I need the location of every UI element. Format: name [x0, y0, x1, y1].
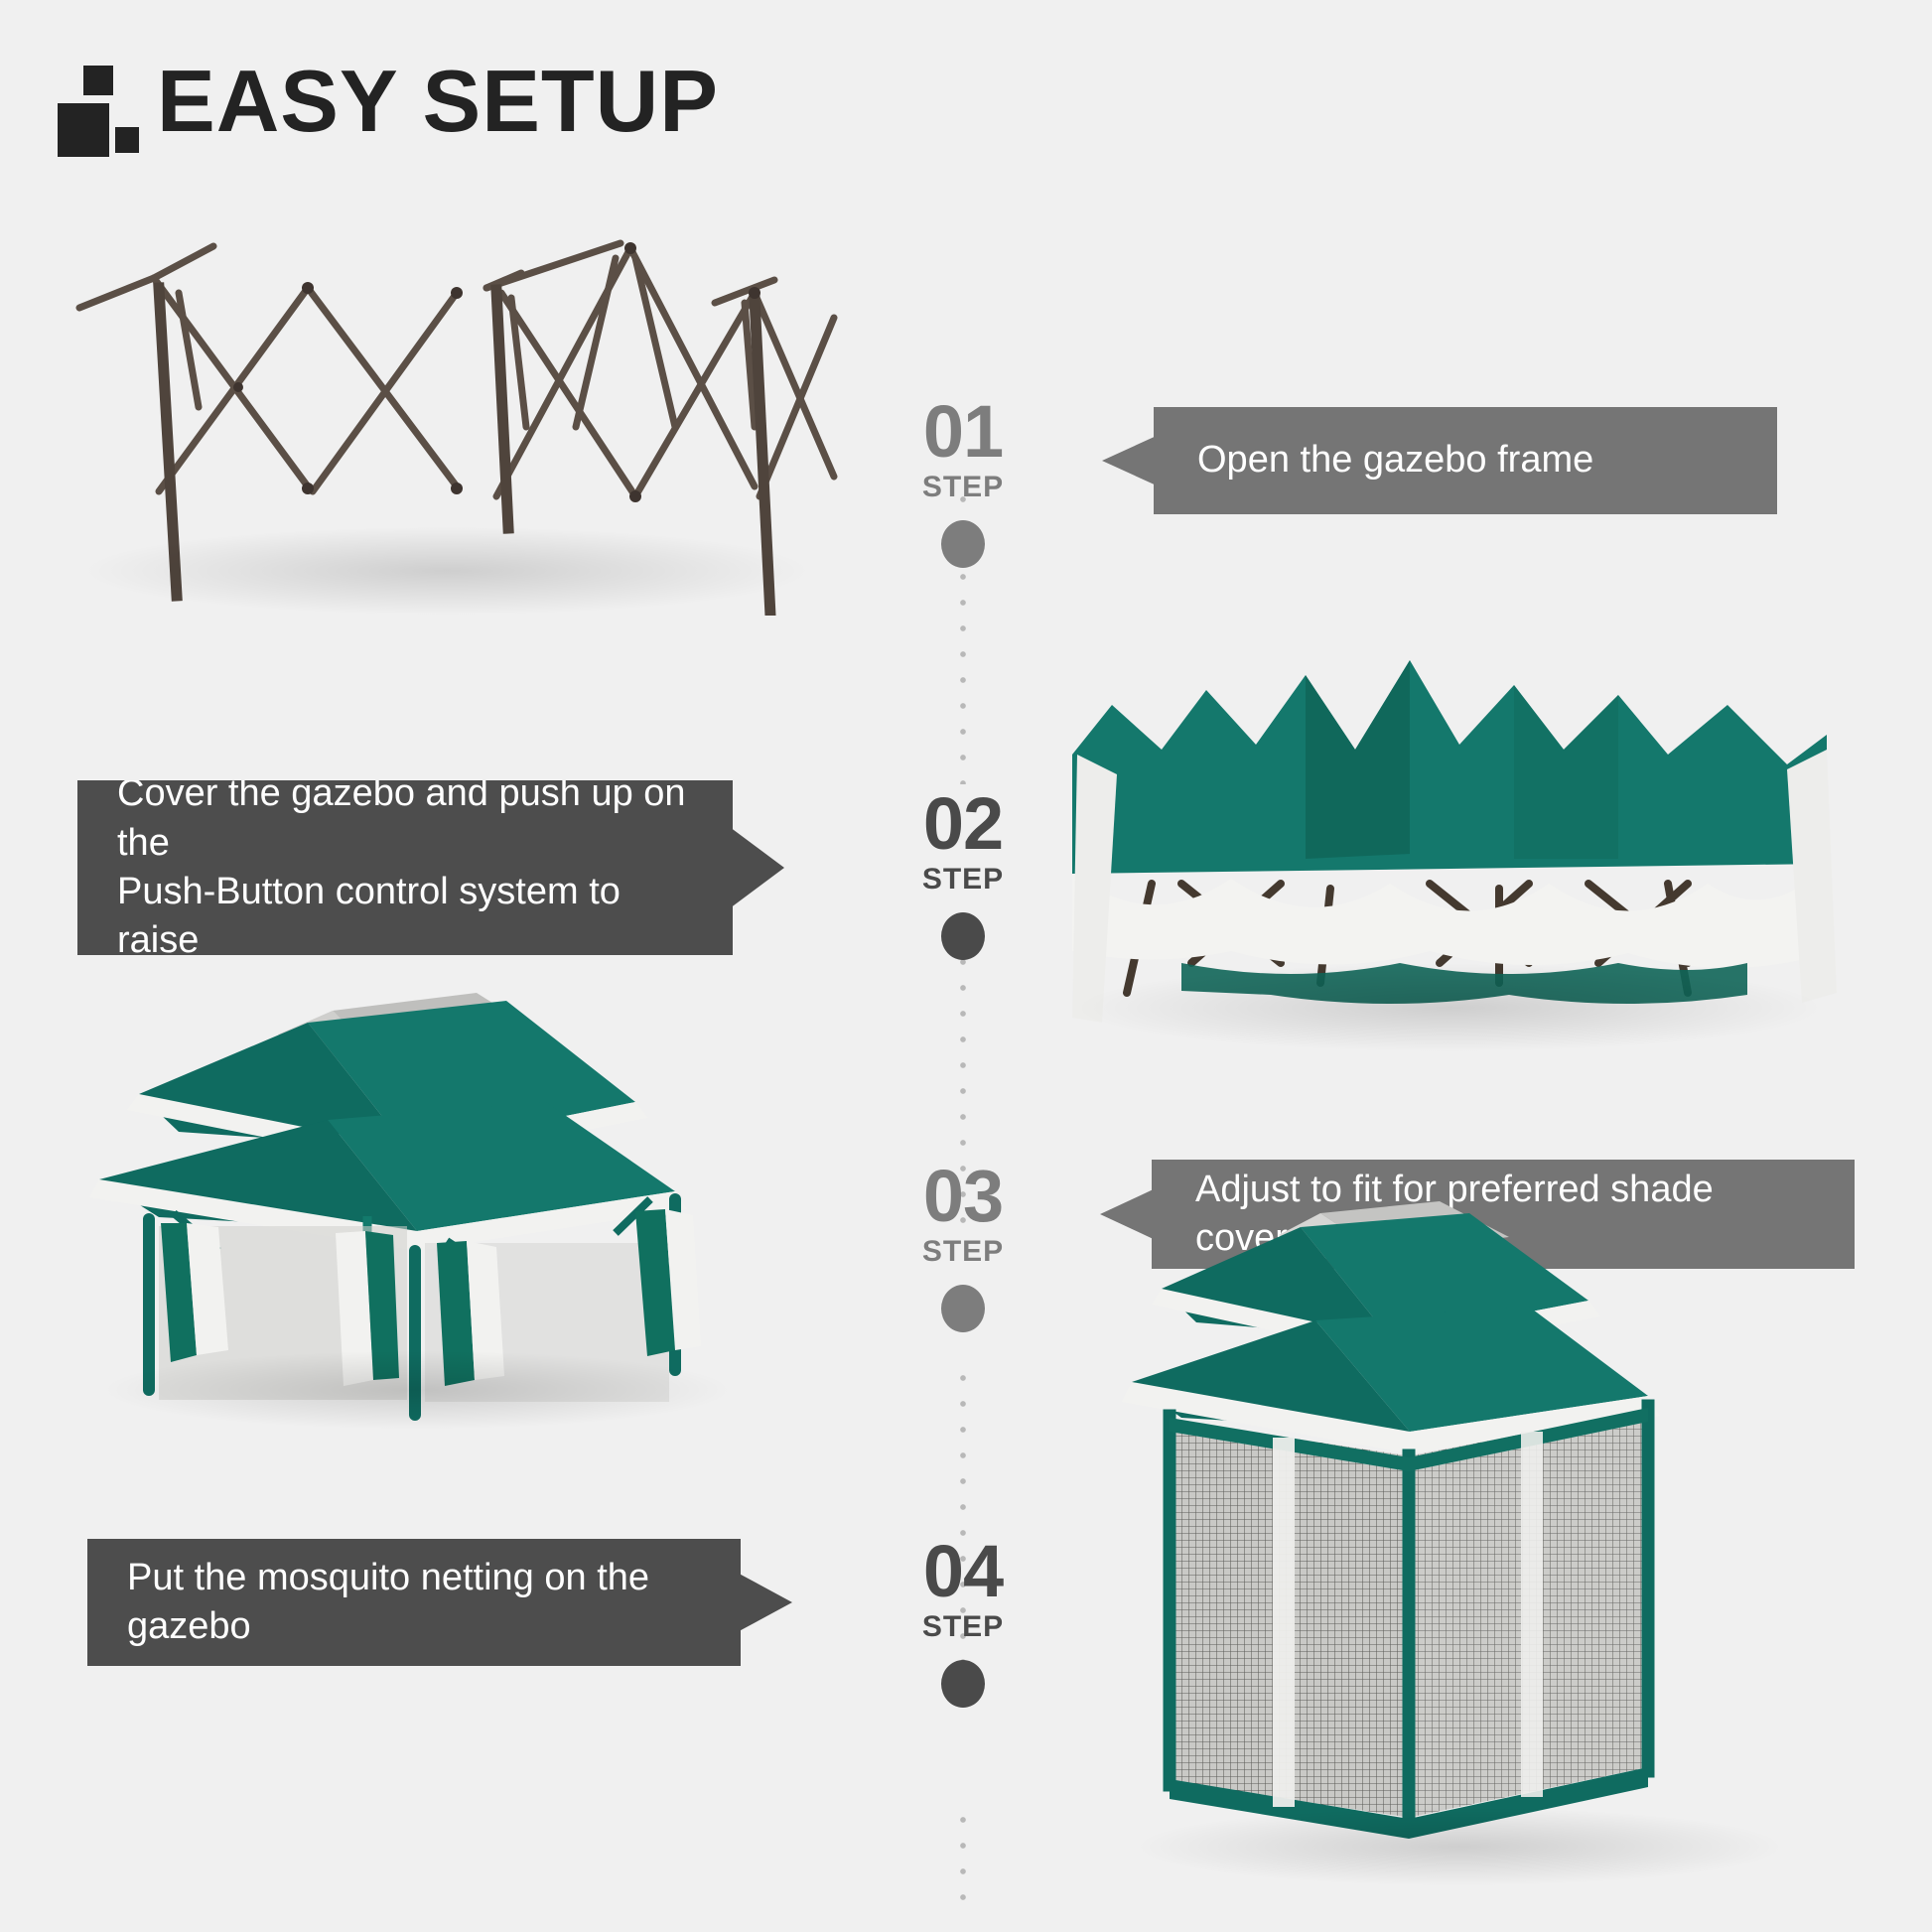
- canopy-teal-drape: [1072, 660, 1827, 874]
- step-word: STEP: [884, 863, 1042, 897]
- netted-gazebo-svg: [1112, 1172, 1807, 1896]
- step-dot: [941, 520, 985, 568]
- step-number: 01: [884, 397, 1042, 467]
- callout-step-02: Cover the gazebo and push up on the Push…: [77, 780, 784, 955]
- page-header: EASY SETUP: [58, 58, 719, 145]
- callout-text: Open the gazebo frame: [1197, 436, 1593, 484]
- callout-text: Cover the gazebo and push up on the Push…: [117, 769, 689, 966]
- step-dot: [941, 1285, 985, 1332]
- step-dot: [941, 912, 985, 960]
- gazebo-with-canopy-draped-photo: [1033, 635, 1866, 1062]
- gazebo-with-mosquito-netting-photo: [1112, 1172, 1807, 1896]
- step-number: 04: [884, 1537, 1042, 1606]
- canopy-white-skirt: [1072, 866, 1827, 968]
- step-dot: [941, 1660, 985, 1708]
- three-squares-logo-icon: [58, 66, 131, 137]
- folded-gazebo-frame-photo: [60, 199, 854, 616]
- step-marker-02: 02 STEP: [884, 789, 1042, 960]
- callout-step-01: Open the gazebo frame: [1102, 407, 1777, 514]
- step-number: 03: [884, 1162, 1042, 1231]
- page-title: EASY SETUP: [157, 58, 719, 145]
- step-number: 02: [884, 789, 1042, 859]
- assembled-gazebo-with-curtains-photo: [79, 953, 755, 1430]
- step-word: STEP: [884, 471, 1042, 504]
- step-marker-03: 03 STEP: [884, 1162, 1042, 1332]
- step-marker-01: 01 STEP: [884, 397, 1042, 568]
- step-word: STEP: [884, 1610, 1042, 1644]
- step-word: STEP: [884, 1235, 1042, 1269]
- callout-text: Put the mosquito netting on the gazebo: [127, 1554, 697, 1652]
- step-marker-04: 04 STEP: [884, 1537, 1042, 1708]
- callout-step-04: Put the mosquito netting on the gazebo: [87, 1539, 792, 1666]
